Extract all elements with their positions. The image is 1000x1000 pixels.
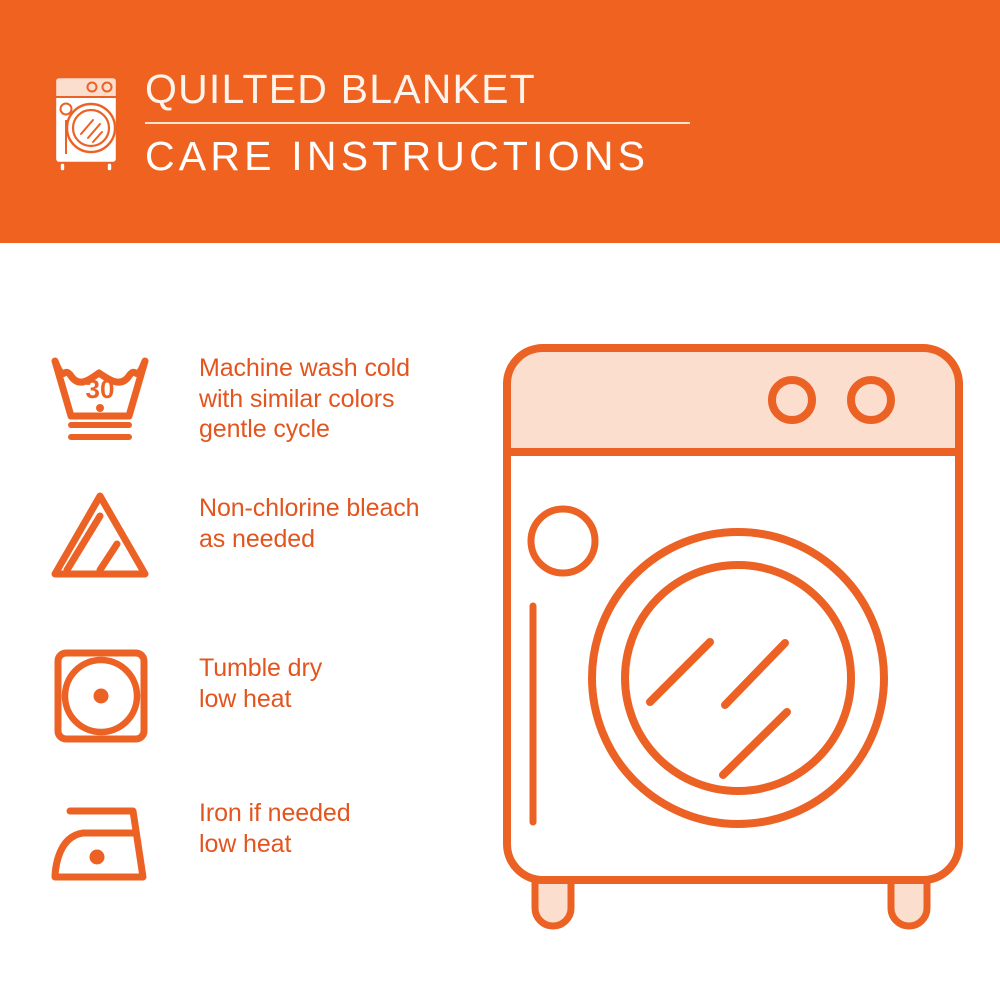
washing-machine-icon [45,68,127,172]
care-line: Machine wash cold [199,353,410,384]
care-instruction-item: Non-chlorine bleach as needed [0,483,480,588]
care-instruction-text: Iron if needed low heat [199,788,351,859]
care-instructions-list: 30 Machine wash cold with similar colors… [0,243,480,1000]
header-banner: QUILTED BLANKET CARE INSTRUCTIONS [0,0,1000,243]
care-line: low heat [199,829,351,860]
care-line: Non-chlorine bleach [199,493,419,524]
wash-tub-30-gentle-icon: 30 [42,343,167,448]
tumble-dry-low-heat-icon [42,643,167,748]
non-chlorine-bleach-triangle-icon [42,483,167,588]
page-title-secondary: CARE INSTRUCTIONS [145,130,785,182]
care-instruction-item: 30 Machine wash cold with similar colors… [0,343,480,448]
front-load-washing-machine-illustration [495,330,970,940]
care-instruction-text: Machine wash cold with similar colors ge… [199,343,410,445]
care-line: gentle cycle [199,414,410,445]
care-instruction-item: Tumble dry low heat [0,643,480,748]
care-instruction-item: Iron if needed low heat [0,788,480,893]
wash-temperature-label: 30 [85,374,114,404]
care-line: with similar colors [199,384,410,415]
care-line: Tumble dry [199,653,322,684]
care-line: low heat [199,684,322,715]
care-line: as needed [199,524,419,555]
page-title-primary: QUILTED BLANKET [145,64,785,114]
header-title-block: QUILTED BLANKET CARE INSTRUCTIONS [145,64,785,182]
title-divider [145,122,690,124]
care-line: Iron if needed [199,798,351,829]
care-instruction-text: Non-chlorine bleach as needed [199,483,419,554]
care-instruction-text: Tumble dry low heat [199,643,322,714]
iron-low-heat-icon [42,788,167,893]
